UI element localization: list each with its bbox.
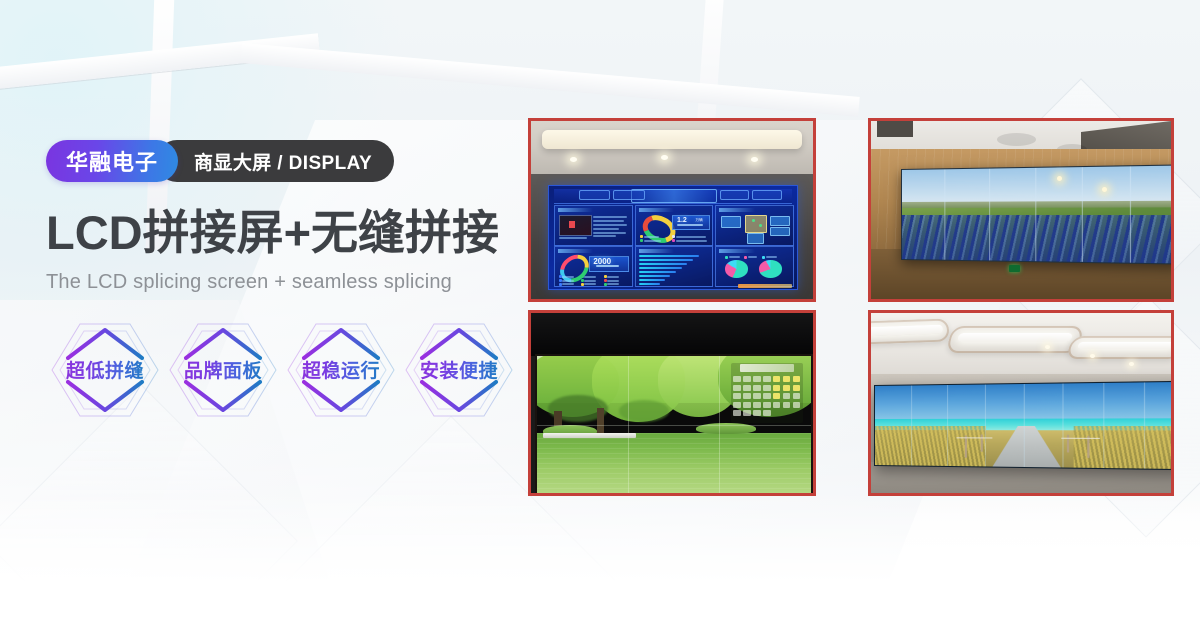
feature-badge: 超低拼缝 — [46, 318, 164, 422]
solar-farm-screen-content — [901, 164, 1171, 264]
feature-badge: 品牌面板 — [164, 318, 282, 422]
product-photo-grid: 1.2 万辆 — [528, 118, 1174, 490]
photo-solar-farm-ultrawide-video-wall[interactable] — [868, 118, 1174, 302]
dashboard-screen-content: 1.2 万辆 — [548, 185, 798, 290]
dashboard-metric-unit: 万辆 — [696, 218, 703, 223]
brand-name-pill: 华融电子 — [46, 140, 178, 182]
feature-badge: 安装便捷 — [400, 318, 518, 422]
promo-banner: 华融电子 商显大屏 / DISPLAY LCD拼接屏+无缝拼接 The LCD … — [0, 0, 1200, 640]
page-title: LCD拼接屏+无缝拼接 — [46, 208, 546, 259]
feature-badge-label: 超低拼缝 — [66, 356, 144, 383]
background-bottom-fade — [0, 490, 1200, 640]
calendar-overlay — [731, 363, 802, 423]
brand-bar: 华融电子 商显大屏 / DISPLAY — [46, 140, 546, 182]
headline-block: 华融电子 商显大屏 / DISPLAY LCD拼接屏+无缝拼接 The LCD … — [46, 140, 546, 422]
beach-screen-content — [874, 381, 1171, 471]
category-tag-pill: 商显大屏 / DISPLAY — [156, 140, 394, 182]
feature-badge-list: 超低拼缝 品牌面板 超稳运行 — [46, 318, 546, 422]
feature-badge: 超稳运行 — [282, 318, 400, 422]
page-subtitle: The LCD splicing screen + seamless splic… — [46, 271, 546, 294]
feature-badge-label: 超稳运行 — [302, 356, 380, 383]
photo-beach-boardwalk-video-wall[interactable] — [868, 310, 1174, 496]
lake-screen-content — [535, 354, 813, 493]
dashboard-metric-value: 1.2 — [677, 217, 687, 224]
photo-control-room-dashboard-video-wall[interactable]: 1.2 万辆 — [528, 118, 816, 302]
photo-willow-lake-video-wall[interactable] — [528, 310, 816, 496]
feature-badge-label: 品牌面板 — [184, 356, 262, 383]
feature-badge-label: 安装便捷 — [420, 356, 498, 383]
